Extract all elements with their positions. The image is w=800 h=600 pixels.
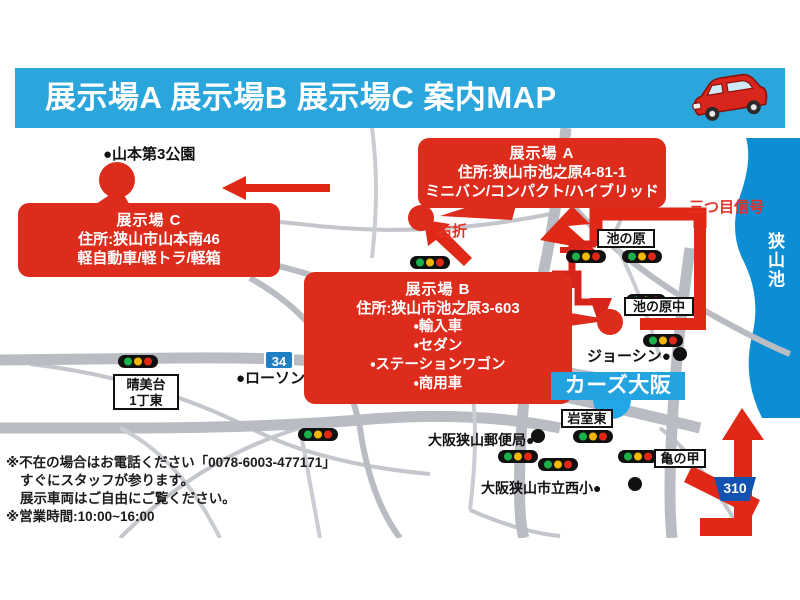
callout-c-address: 住所:狭山市山本南46	[24, 230, 274, 249]
marker-showroom-a	[408, 205, 434, 231]
footer-line-3: 展示車両はご自由にご覧ください。	[20, 490, 236, 508]
callout-b-item-4: ・商用車	[310, 375, 566, 394]
callout-a-title: 展示場 A	[424, 144, 660, 163]
label-sayamaike: 狭山池	[762, 232, 784, 289]
label-ikenohara-naka: 池の原中	[624, 297, 694, 316]
callout-b-title: 展示場 B	[310, 280, 566, 299]
label-harumidai: 晴美台 1丁東	[113, 374, 179, 410]
label-yamamoto-park: ●山本第3公園	[103, 143, 195, 164]
callout-b-item-1: ・輸入車	[310, 318, 566, 337]
callout-showroom-c: 展示場 C 住所:狭山市山本南46 軽自動車/軽トラ/軽箱	[18, 203, 280, 277]
callout-b-address: 住所:狭山市池之原3-603	[310, 299, 566, 318]
label-kamenoko: 亀の甲	[654, 449, 706, 468]
red-car-icon	[686, 72, 772, 124]
label-post-office: 大阪狭山郵便局●	[428, 430, 534, 450]
label-lawson: ●ローソン	[236, 367, 305, 388]
arrow-left-top	[222, 176, 330, 200]
callout-c-title: 展示場 C	[24, 211, 274, 230]
callout-showroom-a: 展示場 A 住所:狭山市池之原4-81-1 ミニバン/コンパクト/ハイブリッド	[418, 138, 666, 208]
callout-a-detail: ミニバン/コンパクト/ハイブリッド	[424, 182, 660, 201]
route-shield-310: 310	[714, 477, 756, 501]
callout-showroom-b: 展示場 B 住所:狭山市池之原3-603 ・輸入車 ・セダン ・ステーションワゴ…	[304, 272, 572, 404]
callout-b-item-2: ・セダン	[310, 337, 566, 356]
poi-joshin-dot	[673, 347, 687, 361]
label-carz-osaka: カーズ大阪	[551, 372, 685, 400]
footer-line-2: すぐにスタッフが参ります。	[20, 472, 194, 490]
footer-line-4: ※営業時間:10:00~16:00	[6, 508, 155, 526]
label-joshin: ジョーシン●	[587, 345, 671, 366]
page-title: 展示場A 展示場B 展示場C 案内MAP	[45, 74, 685, 122]
map-flyer: 展示場A 展示場B 展示場C 案内MAP	[0, 0, 800, 600]
label-three-signal: 三つ目信号	[689, 196, 764, 217]
callout-c-detail: 軽自動車/軽トラ/軽箱	[24, 249, 274, 268]
label-usetsu: 右折	[437, 220, 467, 241]
label-harumidai-line1: 晴美台	[115, 377, 177, 393]
label-ikenohara: 池の原	[597, 229, 655, 248]
footer-line-1: ※不在の場合はお電話ください「0078-6003-477171」	[6, 454, 336, 472]
marker-showroom-b	[597, 309, 623, 335]
callout-b-item-3: ・ステーションワゴン	[310, 356, 566, 375]
label-harumidai-line2: 1丁東	[115, 393, 177, 409]
route-shield-34: 34	[264, 350, 294, 370]
label-iwamuro-higashi: 岩室東	[561, 409, 613, 428]
callout-a-address: 住所:狭山市池之原4-81-1	[424, 163, 660, 182]
label-nishisho: 大阪狭山市立西小●	[481, 478, 601, 498]
poi-nishisho-dot	[628, 477, 642, 491]
